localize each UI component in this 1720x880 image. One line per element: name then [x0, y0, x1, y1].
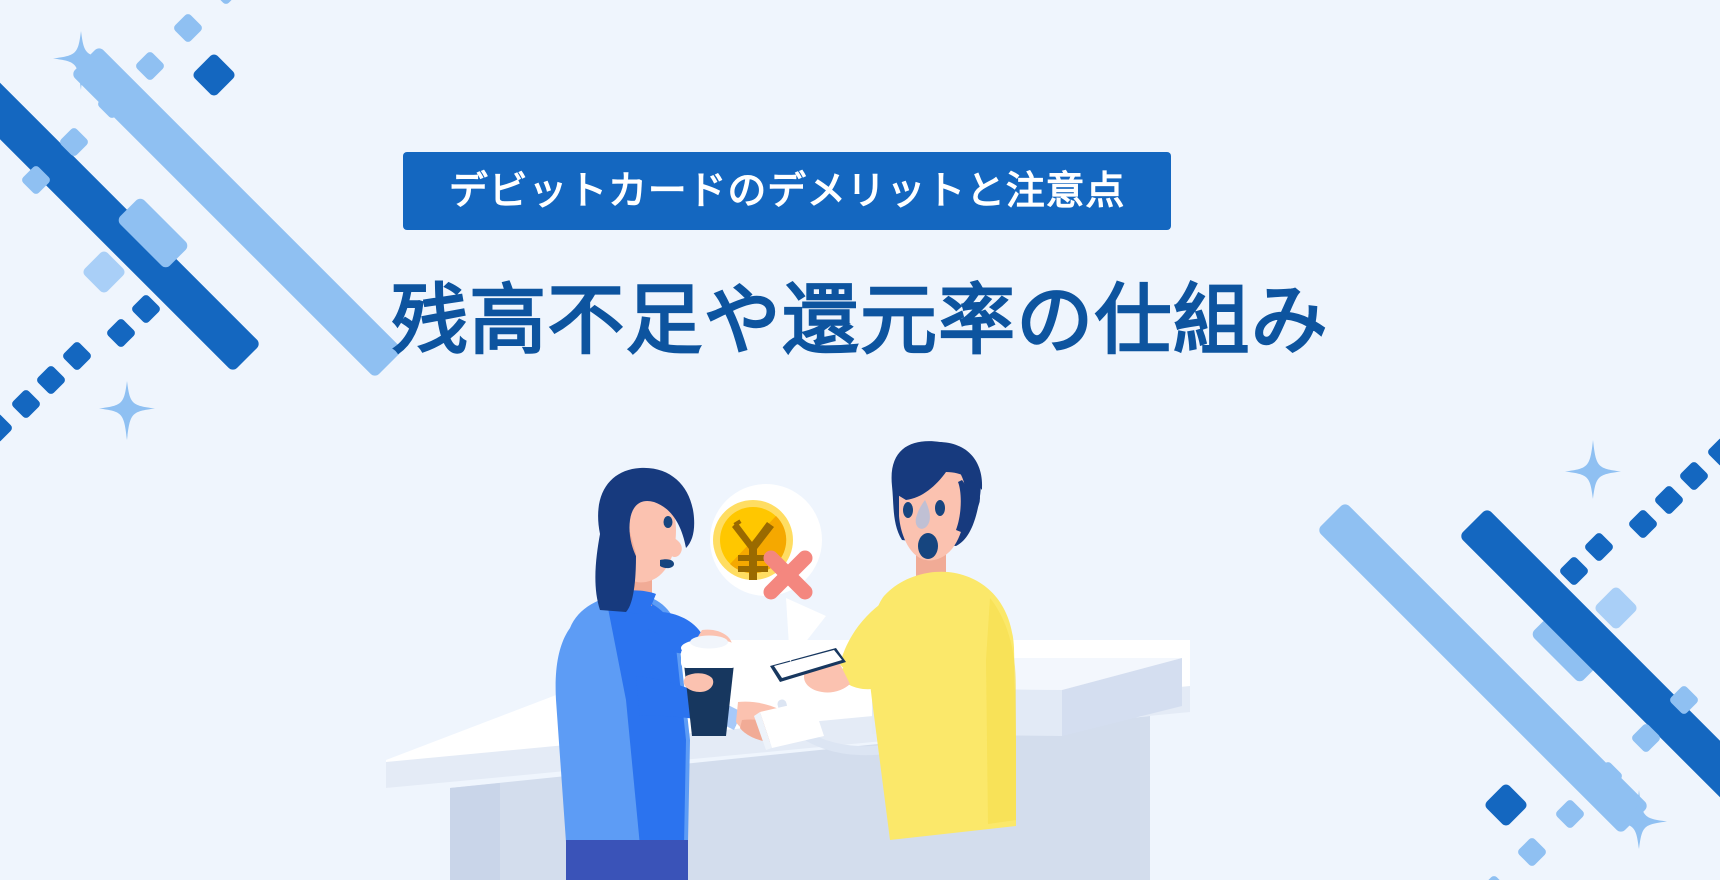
- customer-mouth: [660, 559, 674, 568]
- counter-front-shade: [450, 783, 500, 880]
- scene-illustration: [0, 0, 1720, 880]
- customer-eye: [664, 516, 673, 528]
- customer-pants: [566, 840, 688, 880]
- clerk-eye-left: [903, 502, 913, 518]
- coffee-cup-lid-top: [690, 636, 728, 649]
- clerk-mouth: [918, 533, 938, 559]
- clerk-eye-right: [935, 500, 945, 516]
- page-root: デビットカードのデメリットと注意点 残高不足や還元率の仕組み: [0, 0, 1720, 880]
